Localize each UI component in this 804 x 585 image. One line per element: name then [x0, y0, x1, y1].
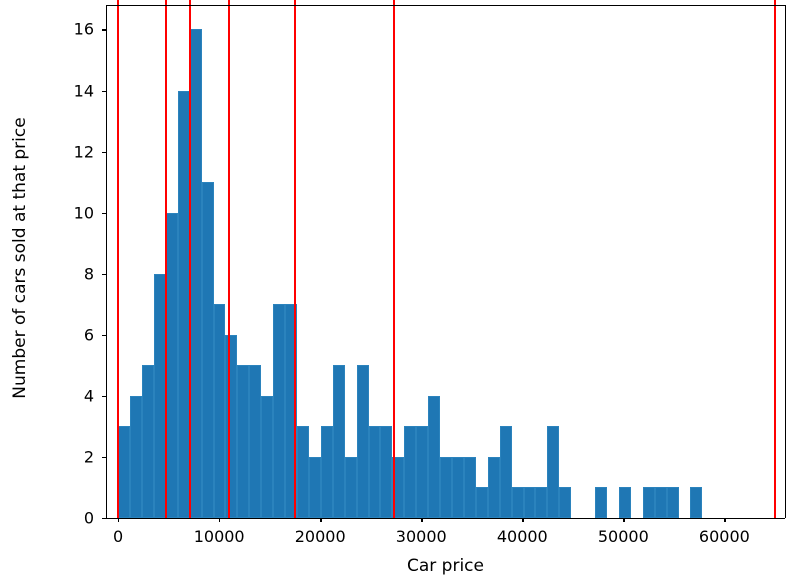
cluster-boundary: [228, 0, 230, 518]
cluster-boundary: [189, 0, 191, 518]
x-axis-tick-label: 50000: [598, 527, 649, 546]
axis-spine-bottom: [106, 518, 785, 519]
histogram-figure: Number of cars sold at that price Car pr…: [0, 0, 804, 585]
y-axis-tick-label: 10: [74, 203, 94, 222]
y-axis-tick-label: 2: [84, 447, 94, 466]
axis-spine-top: [106, 5, 786, 6]
cluster-boundary: [294, 0, 296, 518]
axis-spine-left: [106, 5, 107, 518]
cluster-boundary: [774, 0, 776, 518]
x-axis-tick-label: 40000: [497, 527, 548, 546]
axis-spine-right: [785, 5, 786, 518]
x-axis-tick-label: 60000: [699, 527, 750, 546]
y-axis-tick-label: 16: [74, 20, 94, 39]
y-axis-tick-label: 6: [84, 325, 94, 344]
cluster-boundary: [165, 0, 167, 518]
x-axis-label: Car price: [106, 556, 785, 576]
x-axis-tick-label: 10000: [194, 527, 245, 546]
cluster-boundary: [117, 0, 119, 518]
y-axis-tick-label: 0: [84, 509, 94, 528]
x-axis-tick-label: 0: [113, 527, 123, 546]
y-axis-tick-label: 4: [84, 386, 94, 405]
y-axis-tick-label: 12: [74, 142, 94, 161]
vertical-threshold-lines: [106, 5, 785, 518]
y-axis-label: Number of cars sold at that price: [10, 0, 30, 518]
x-axis-tick-label: 20000: [295, 527, 346, 546]
y-axis-tick-label: 14: [74, 81, 94, 100]
plot-area: 0100002000030000400005000060000024681012…: [106, 5, 785, 518]
y-axis-tick-label: 8: [84, 264, 94, 283]
x-axis-tick-label: 30000: [396, 527, 447, 546]
cluster-boundary: [393, 0, 395, 518]
